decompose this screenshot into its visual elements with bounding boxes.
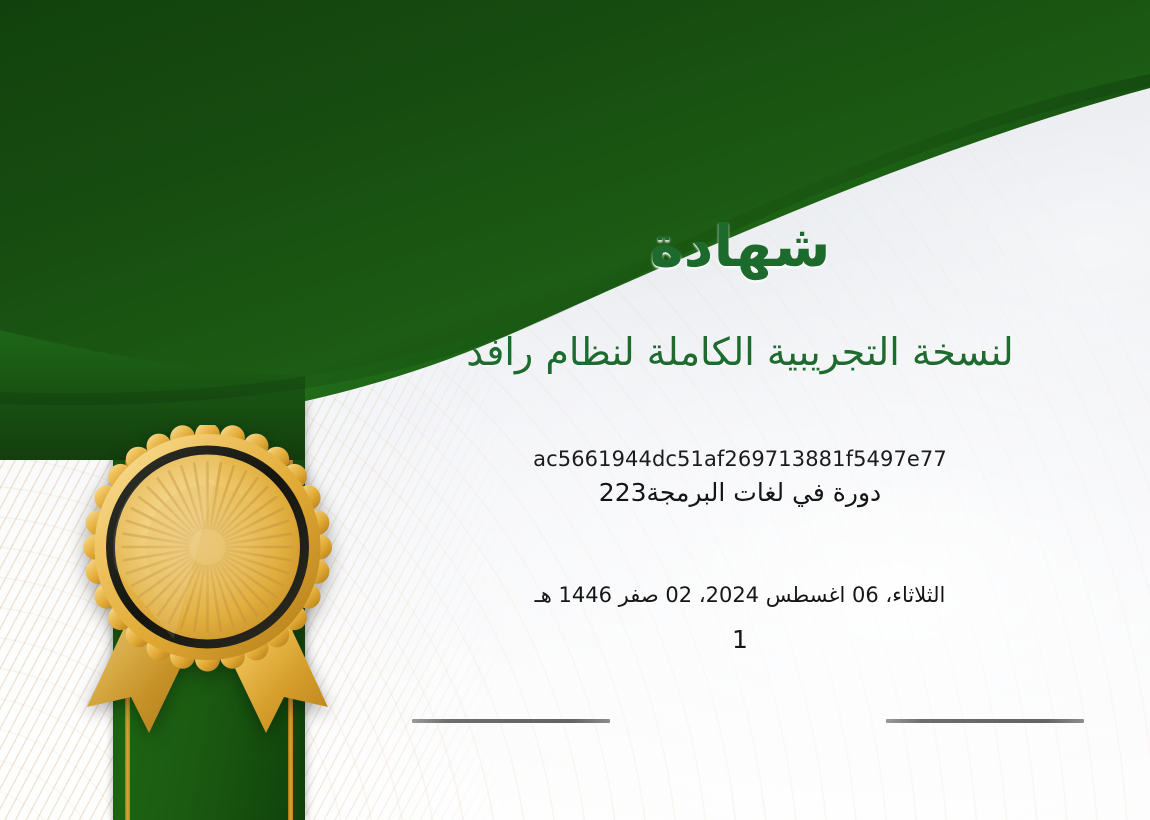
certificate-canvas: شهادة لنسخة التجريبية الكاملة لنظام رافد… (0, 0, 1150, 820)
certificate-serial: 1 (330, 625, 1150, 654)
certificate-date: الثلاثاء، 06 اغسطس 2024، 02 صفر 1446 هـ (330, 583, 1150, 607)
certificate-hash-code: ac5661944dc51af269713881f5497e77 (330, 447, 1150, 471)
certificate-course-name: دورة في لغات البرمجة223 (330, 478, 1150, 507)
certificate-subtitle: لنسخة التجريبية الكاملة لنظام رافد (330, 330, 1150, 374)
certificate-title: شهادة (330, 212, 1150, 280)
certificate-content: شهادة لنسخة التجريبية الكاملة لنظام رافد… (330, 0, 1150, 820)
gold-award-medal-icon (75, 425, 340, 745)
